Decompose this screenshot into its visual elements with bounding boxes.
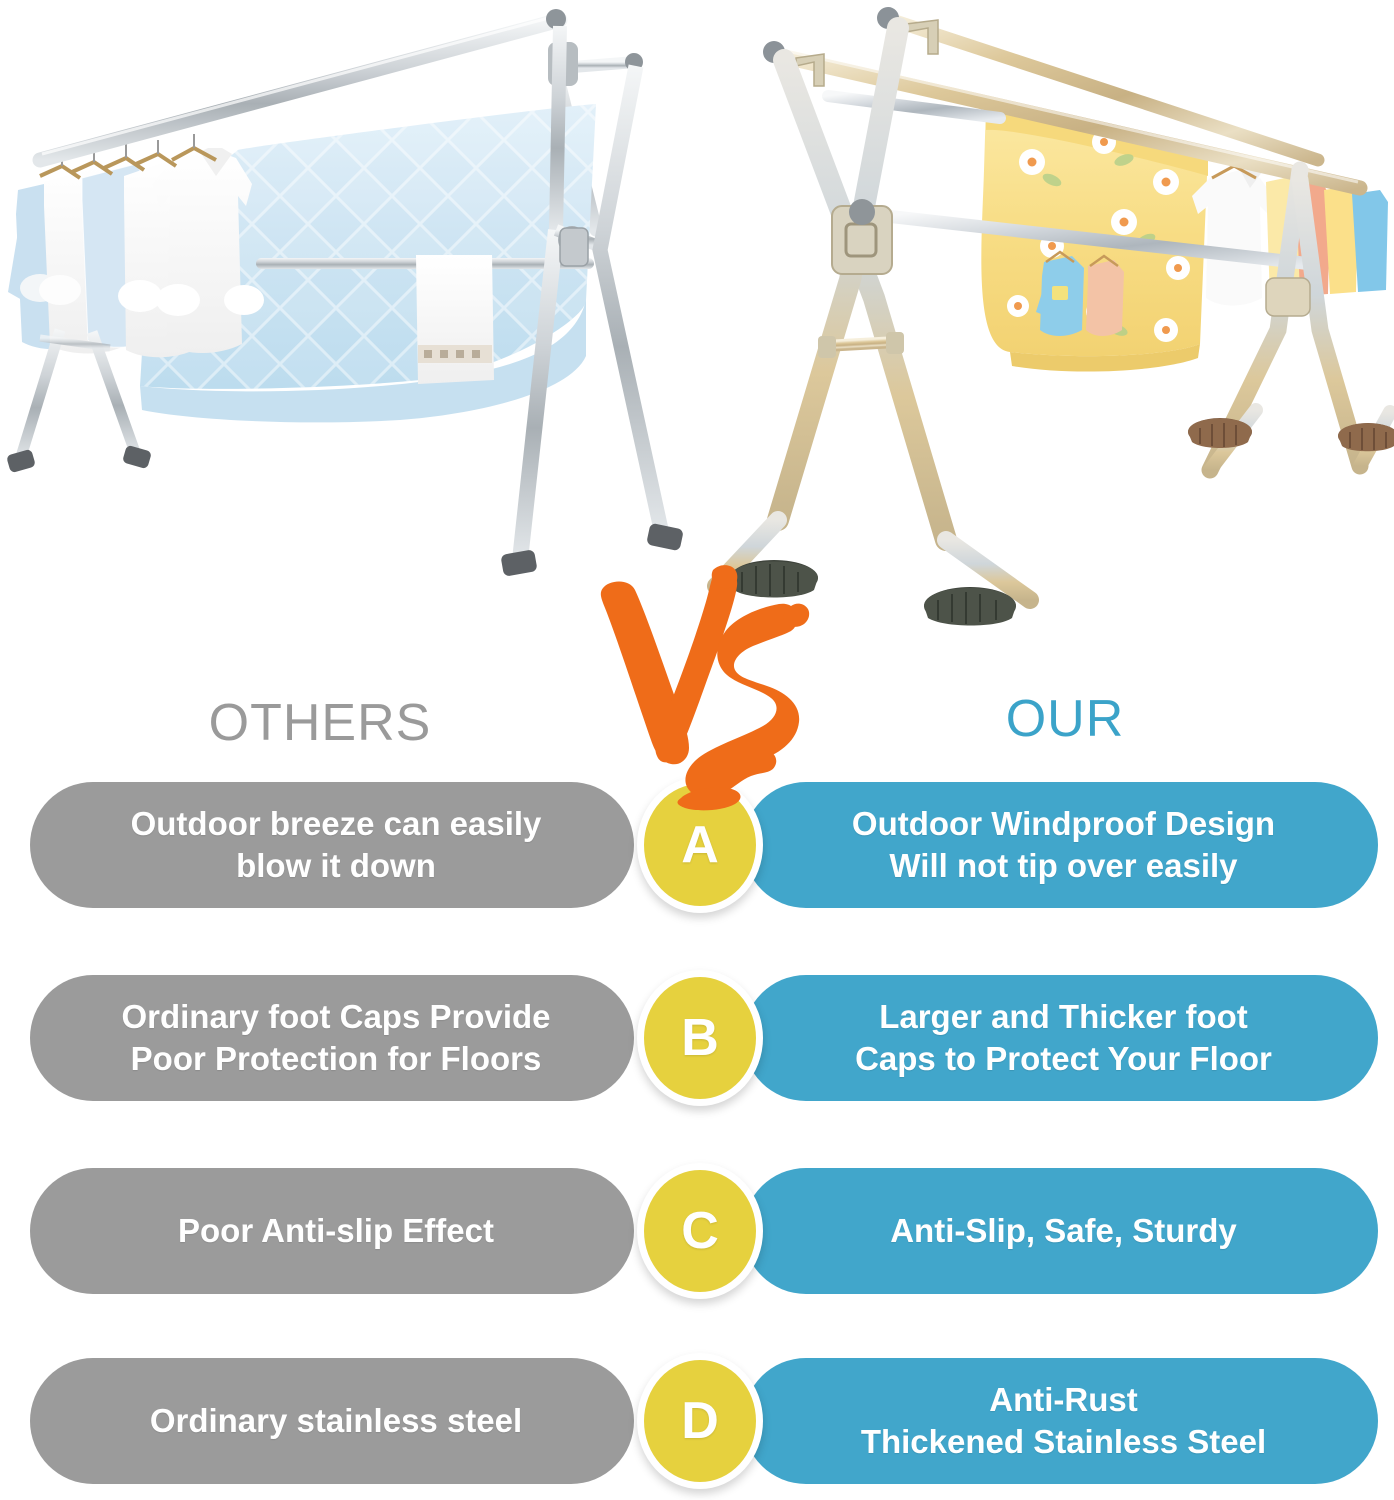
others-text-a: Outdoor breeze can easily blow it down xyxy=(131,803,542,887)
badge-letter-d: D xyxy=(681,1395,719,1447)
our-bar-c: Anti-Slip, Safe, Sturdy xyxy=(743,1168,1378,1294)
badge-letter-b: B xyxy=(681,1012,719,1064)
comparison-row-c: Poor Anti-slip Effect C Anti-Slip, Safe,… xyxy=(0,1168,1394,1294)
others-text-c: Poor Anti-slip Effect xyxy=(178,1210,494,1252)
badge-letter-a: A xyxy=(681,819,719,871)
badge-a: A xyxy=(637,777,763,913)
comparison-row-a: Outdoor breeze can easily blow it down A… xyxy=(0,782,1394,908)
comparison-row-b: Ordinary foot Caps Provide Poor Protecti… xyxy=(0,975,1394,1101)
badge-b: B xyxy=(637,970,763,1106)
others-text-d: Ordinary stainless steel xyxy=(150,1400,522,1442)
our-text-c: Anti-Slip, Safe, Sturdy xyxy=(890,1210,1237,1252)
our-text-d: Anti-Rust Thickened Stainless Steel xyxy=(861,1379,1266,1463)
our-bar-b: Larger and Thicker foot Caps to Protect … xyxy=(743,975,1378,1101)
badge-c: C xyxy=(637,1163,763,1299)
our-bar-d: Anti-Rust Thickened Stainless Steel xyxy=(743,1358,1378,1484)
our-bar-a: Outdoor Windproof Design Will not tip ov… xyxy=(743,782,1378,908)
comparison-rows: Outdoor breeze can easily blow it down A… xyxy=(0,0,1394,1500)
others-bar-a: Outdoor breeze can easily blow it down xyxy=(30,782,634,908)
our-text-b: Larger and Thicker foot Caps to Protect … xyxy=(855,996,1272,1080)
others-bar-d: Ordinary stainless steel xyxy=(30,1358,634,1484)
others-text-b: Ordinary foot Caps Provide Poor Protecti… xyxy=(121,996,550,1080)
others-bar-b: Ordinary foot Caps Provide Poor Protecti… xyxy=(30,975,634,1101)
our-text-a: Outdoor Windproof Design Will not tip ov… xyxy=(852,803,1275,887)
comparison-row-d: Ordinary stainless steel D Anti-Rust Thi… xyxy=(0,1358,1394,1484)
badge-d: D xyxy=(637,1353,763,1489)
badge-letter-c: C xyxy=(681,1205,719,1257)
others-bar-c: Poor Anti-slip Effect xyxy=(30,1168,634,1294)
